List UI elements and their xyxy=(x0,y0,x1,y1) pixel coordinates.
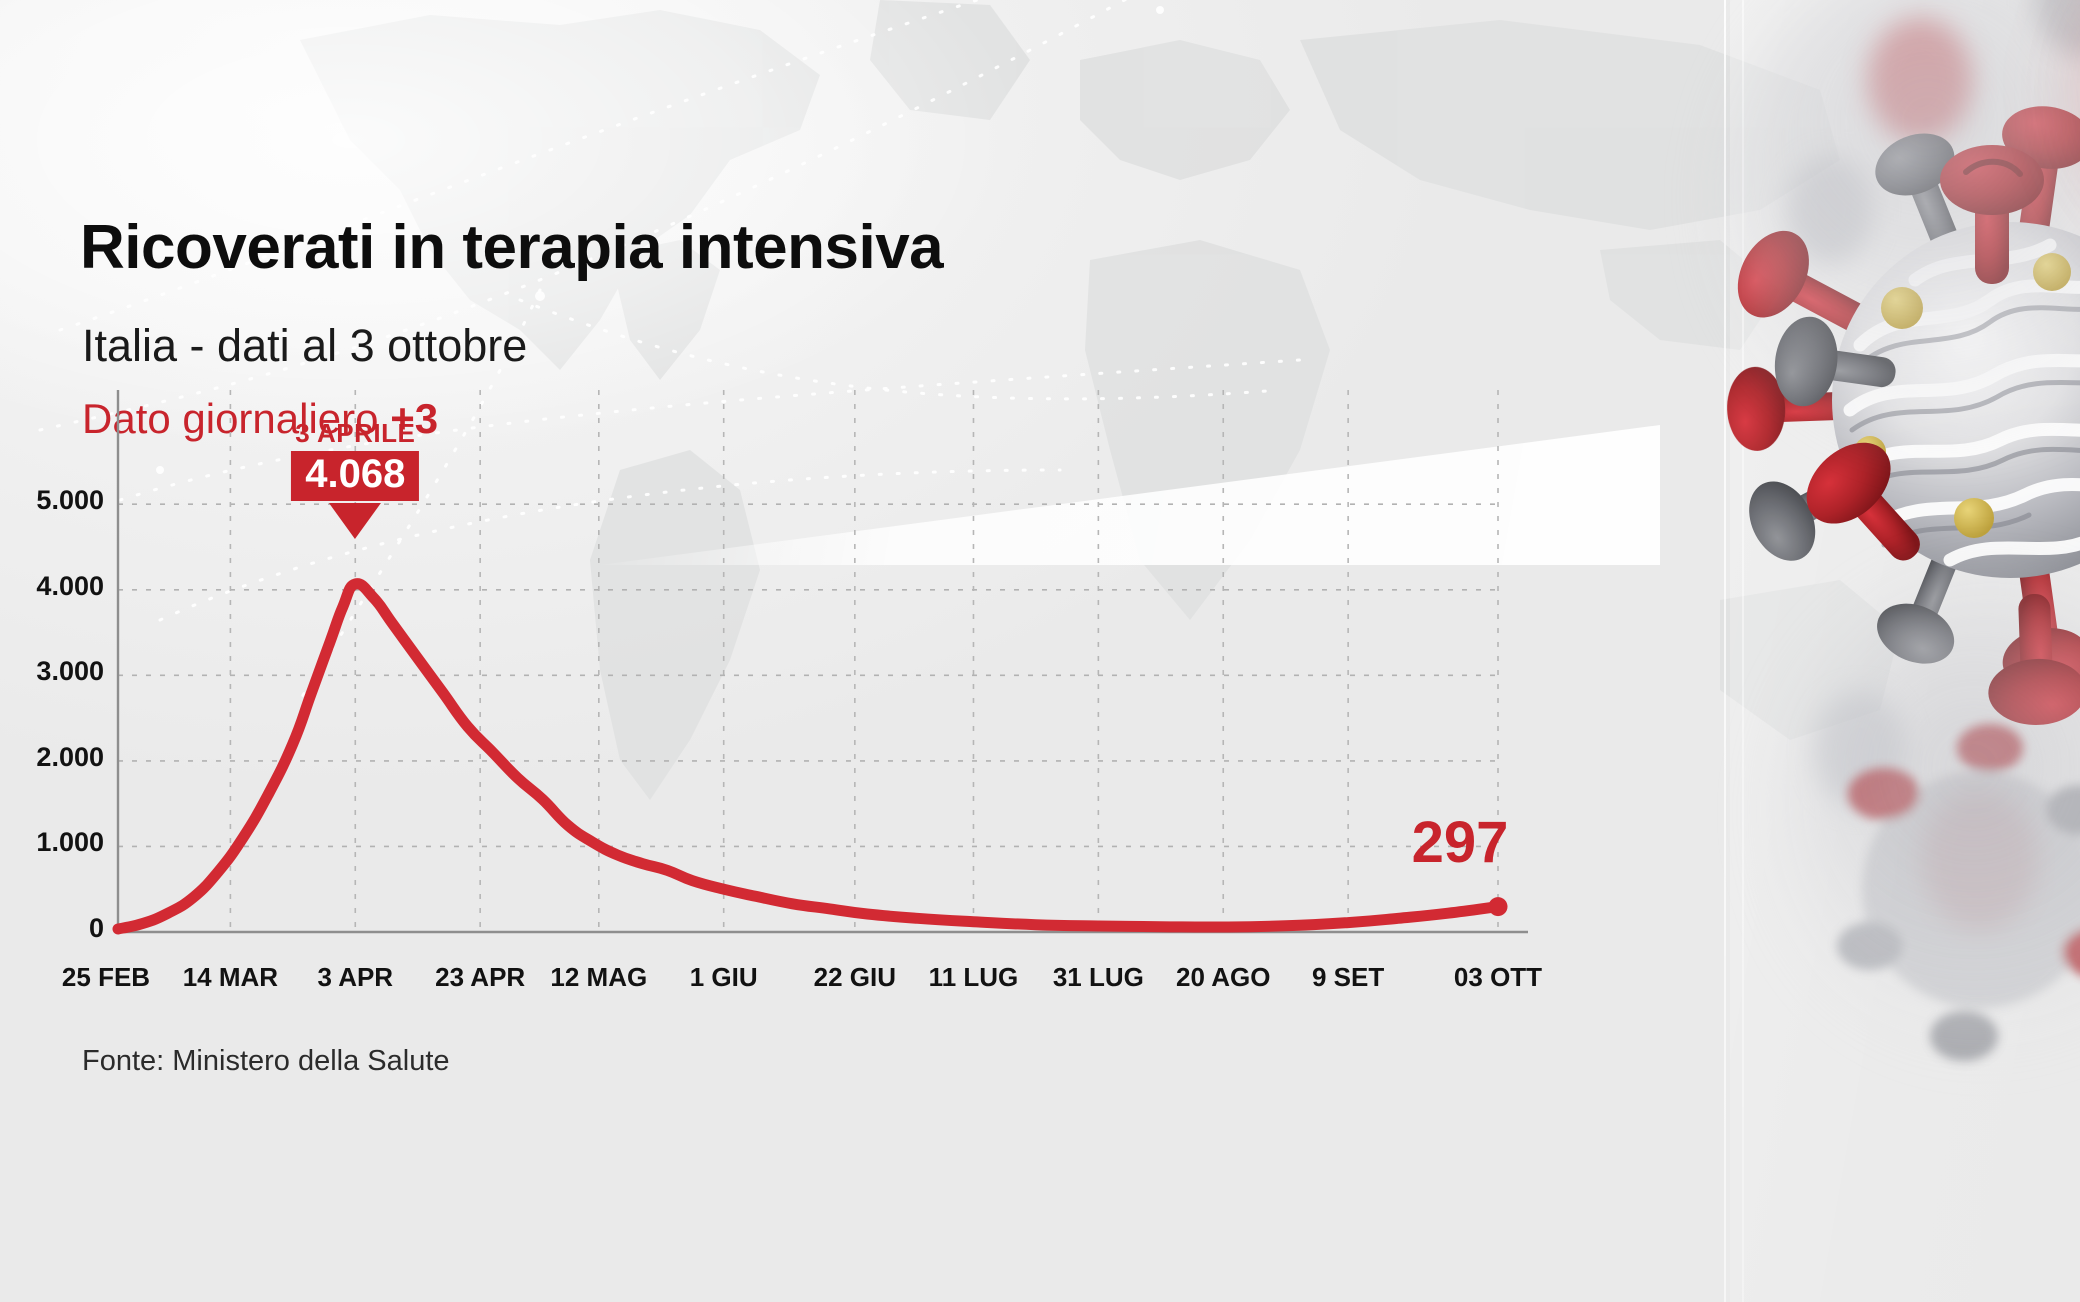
peak-annotation: 3 APRILE 4.068 xyxy=(291,420,419,539)
source-note: Fonte: Ministero della Salute xyxy=(82,1045,450,1078)
x-axis-tick: 12 MAG xyxy=(550,962,647,993)
x-axis-tick: 22 GIU xyxy=(814,962,896,993)
x-axis-tick: 11 LUG xyxy=(929,962,1019,993)
y-axis-tick: 0 xyxy=(89,913,104,944)
peak-date-label: 3 APRILE xyxy=(291,420,419,447)
x-axis-tick: 3 APR xyxy=(317,962,393,993)
x-axis-tick: 9 SET xyxy=(1312,962,1384,993)
y-axis-tick: 1.000 xyxy=(36,827,104,858)
x-axis-tick: 20 AGO xyxy=(1176,962,1270,993)
x-axis-tick: 31 LUG xyxy=(1053,962,1144,993)
y-axis-tick: 4.000 xyxy=(36,571,104,602)
y-axis-tick: 3.000 xyxy=(36,656,104,687)
end-value-label: 297 xyxy=(1412,809,1509,876)
peak-value-badge: 4.068 xyxy=(291,451,419,501)
x-axis-tick: 03 OTT xyxy=(1454,962,1542,993)
divider-line-right xyxy=(1742,0,1744,1302)
x-axis-tick: 23 APR xyxy=(435,962,525,993)
y-axis-tick: 2.000 xyxy=(36,742,104,773)
x-axis-tick: 25 FEB xyxy=(62,962,150,993)
peak-pointer-icon xyxy=(329,503,381,539)
infographic-root: Ricoverati in terapia intensiva Italia -… xyxy=(0,0,2080,1302)
x-axis-tick: 14 MAR xyxy=(183,962,278,993)
line-chart: 01.0002.0003.0004.0005.000 25 FEB14 MAR3… xyxy=(0,0,1700,1100)
y-axis-tick: 5.000 xyxy=(36,485,104,516)
divider-line-left xyxy=(1724,0,1726,1302)
x-axis-tick: 1 GIU xyxy=(690,962,758,993)
